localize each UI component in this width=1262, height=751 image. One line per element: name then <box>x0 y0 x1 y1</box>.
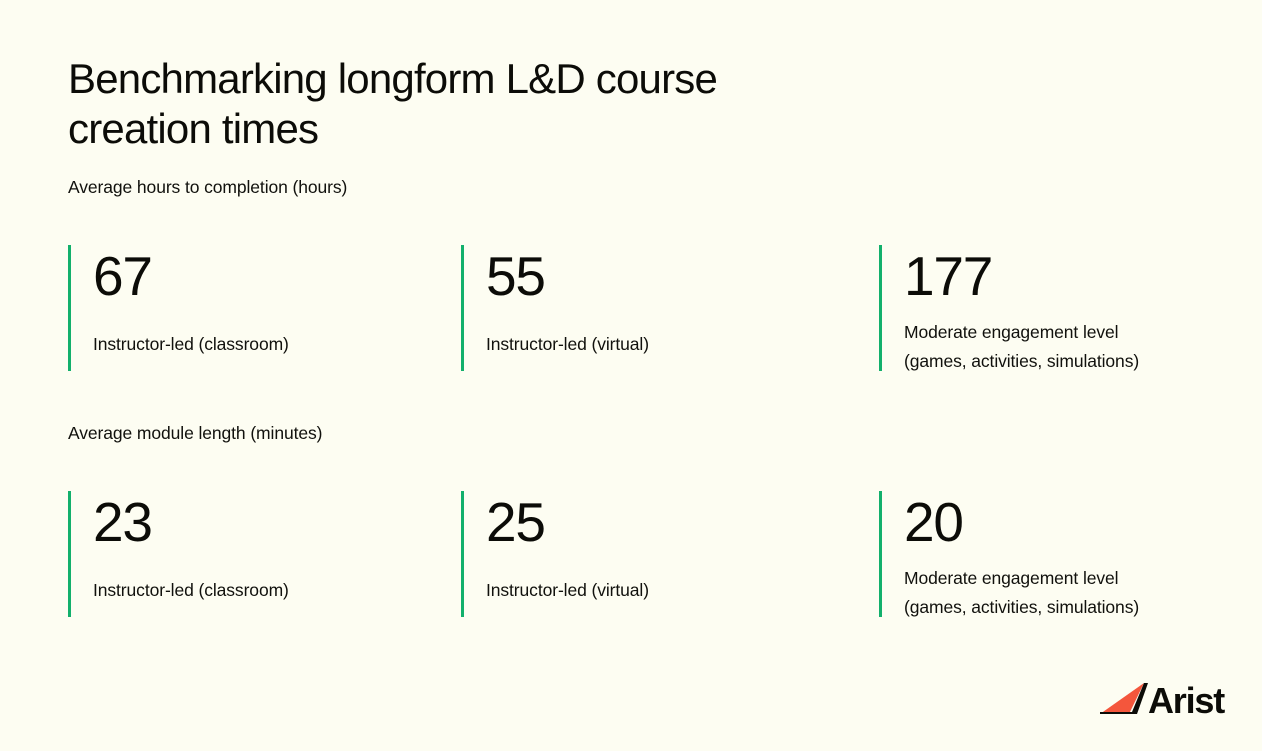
accent-bar-icon <box>68 491 71 617</box>
section-header-module-length: Average module length (minutes) <box>68 422 322 444</box>
stat-label-line1: Instructor-led (classroom) <box>93 580 289 600</box>
accent-bar-icon <box>879 491 882 617</box>
stat-value: 20 <box>904 494 1228 550</box>
stat-row-hours: 67 Instructor-led (classroom) 55 Instruc… <box>68 245 1228 376</box>
accent-bar-icon <box>461 491 464 617</box>
stat-label-line1: Moderate engagement level <box>904 322 1118 342</box>
stat-value: 23 <box>93 494 461 550</box>
accent-bar-icon <box>461 245 464 371</box>
stat-label: Instructor-led (classroom) <box>93 576 461 605</box>
stat-value: 67 <box>93 248 461 304</box>
stat-value: 25 <box>486 494 879 550</box>
stat-label-line1: Instructor-led (virtual) <box>486 580 649 600</box>
stat-label-line2: (games, activities, simulations) <box>904 347 1228 376</box>
stat-label: Instructor-led (virtual) <box>486 330 879 359</box>
arist-wordmark: Arist <box>1148 683 1224 719</box>
stat-row-module-length: 23 Instructor-led (classroom) 25 Instruc… <box>68 491 1228 622</box>
arist-triangle-mark-icon <box>1096 681 1150 721</box>
stat-label-line1: Instructor-led (virtual) <box>486 334 649 354</box>
stat-card: 20 Moderate engagement level (games, act… <box>879 491 1228 622</box>
stat-value: 177 <box>904 248 1228 304</box>
arist-logo: Arist <box>1096 681 1224 721</box>
stat-label: Instructor-led (virtual) <box>486 576 879 605</box>
stat-label: Moderate engagement level (games, activi… <box>904 318 1228 376</box>
stat-card: 23 Instructor-led (classroom) <box>68 491 461 622</box>
stat-label: Moderate engagement level (games, activi… <box>904 564 1228 622</box>
stat-label: Instructor-led (classroom) <box>93 330 461 359</box>
stat-card: 177 Moderate engagement level (games, ac… <box>879 245 1228 376</box>
stat-label-line1: Moderate engagement level <box>904 568 1118 588</box>
accent-bar-icon <box>879 245 882 371</box>
section-header-hours: Average hours to completion (hours) <box>68 176 347 198</box>
stat-value: 55 <box>486 248 879 304</box>
stat-card: 25 Instructor-led (virtual) <box>461 491 879 622</box>
accent-bar-icon <box>68 245 71 371</box>
page-title: Benchmarking longform L&D course creatio… <box>68 54 828 154</box>
slide-canvas: Benchmarking longform L&D course creatio… <box>0 0 1262 751</box>
stat-label-line1: Instructor-led (classroom) <box>93 334 289 354</box>
stat-card: 67 Instructor-led (classroom) <box>68 245 461 376</box>
stat-label-line2: (games, activities, simulations) <box>904 593 1228 622</box>
stat-card: 55 Instructor-led (virtual) <box>461 245 879 376</box>
